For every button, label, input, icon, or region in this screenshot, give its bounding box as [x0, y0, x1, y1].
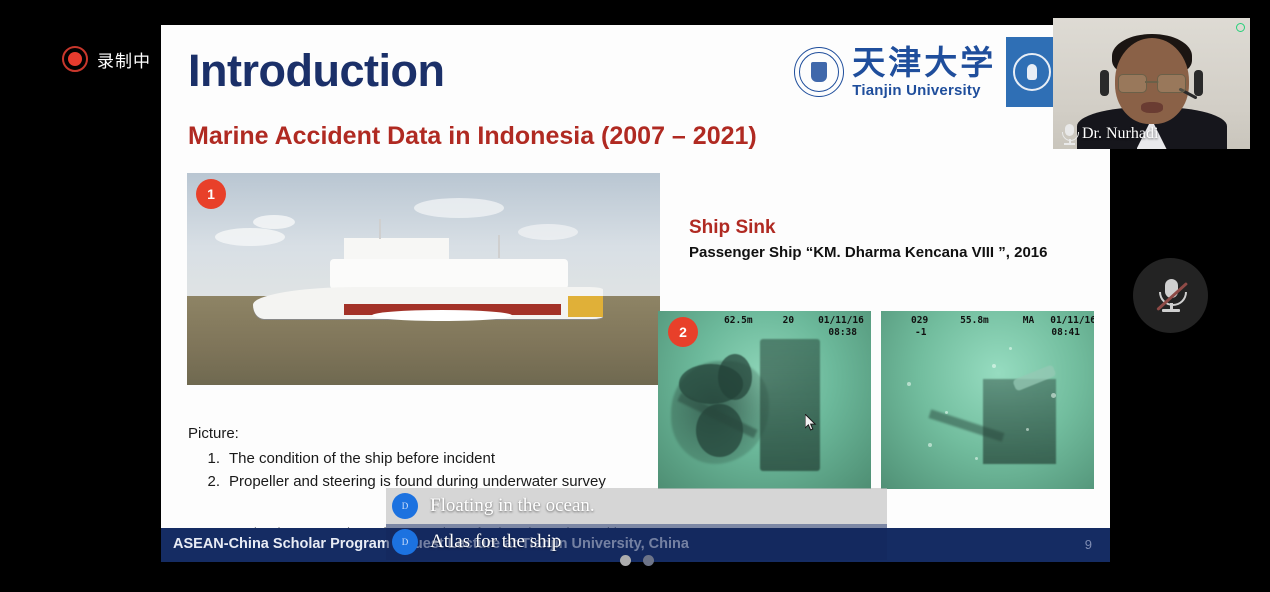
page-dot-active[interactable]: [620, 555, 631, 566]
underwater-photo-left: 62.5m 20 01/11/16 08:38 2: [658, 311, 871, 489]
presentation-slide: Introduction Marine Accident Data in Ind…: [161, 25, 1110, 562]
caption-row: D Floating in the ocean.: [386, 488, 887, 524]
microphone-muted-button[interactable]: [1133, 258, 1208, 333]
underwater-right-osd: 029 55.8m MA 01/11/16 -1 08:41: [881, 315, 1094, 339]
ship-name-label: Passenger Ship “KM. Dharma Kencana VIII …: [689, 244, 1047, 261]
callout-badge-2: 2: [668, 317, 698, 347]
tianjin-english-name: Tianjin University: [852, 83, 996, 98]
slide-title: Introduction: [188, 45, 444, 97]
caption-avatar: D: [392, 493, 418, 519]
participant-video-tile[interactable]: Dr. Nurhadi: [1053, 18, 1250, 149]
record-dot-icon: [62, 46, 88, 72]
slide-subtitle: Marine Accident Data in Indonesia (2007 …: [188, 122, 757, 151]
picture-caption-list: 1.The condition of the ship before incid…: [206, 447, 606, 494]
callout-badge-1: 1: [196, 179, 226, 209]
picture-label: Picture:: [188, 425, 239, 442]
caption-text: Floating in the ocean.: [430, 495, 595, 517]
microphone-muted-icon: [1156, 278, 1186, 314]
ship-sink-heading: Ship Sink: [689, 217, 776, 239]
screen-share-view: 录制中 Introduction Marine Accident Data in…: [0, 0, 1270, 592]
ferry-vessel: [253, 251, 603, 319]
recording-label: 录制中: [97, 47, 151, 72]
caption-page-dots[interactable]: [386, 555, 887, 566]
tianjin-university-logo: 天津大学 Tianjin University: [794, 46, 996, 98]
tianjin-seal-icon: [794, 47, 844, 97]
slide-page-number: 9: [1085, 537, 1092, 552]
mouse-pointer-icon: [805, 414, 817, 432]
participant-name-badge: Dr. Nurhadi: [1061, 123, 1158, 145]
page-dot[interactable]: [643, 555, 654, 566]
list-item: 1.The condition of the ship before incid…: [206, 447, 606, 470]
ship-photo: 1: [187, 173, 660, 385]
logo-group: 天津大学 Tianjin University ITS Institut Tek…: [794, 37, 1094, 107]
tianjin-chinese-name: 天津大学: [852, 46, 996, 79]
caption-avatar: D: [392, 529, 418, 555]
caption-text: Atlas for the ship: [430, 531, 561, 553]
live-caption-overlay: D Floating in the ocean. D Atlas for the…: [386, 488, 887, 560]
microphone-icon: [1061, 123, 1078, 145]
participant-name: Dr. Nurhadi: [1082, 125, 1158, 143]
underwater-photo-right: 029 55.8m MA 01/11/16 -1 08:41: [881, 311, 1094, 489]
green-status-dot-icon: [1236, 23, 1245, 32]
underwater-survey-images: 62.5m 20 01/11/16 08:38 2: [658, 311, 1094, 489]
recording-indicator: 录制中: [62, 46, 151, 72]
its-gear-icon: [1006, 37, 1058, 107]
